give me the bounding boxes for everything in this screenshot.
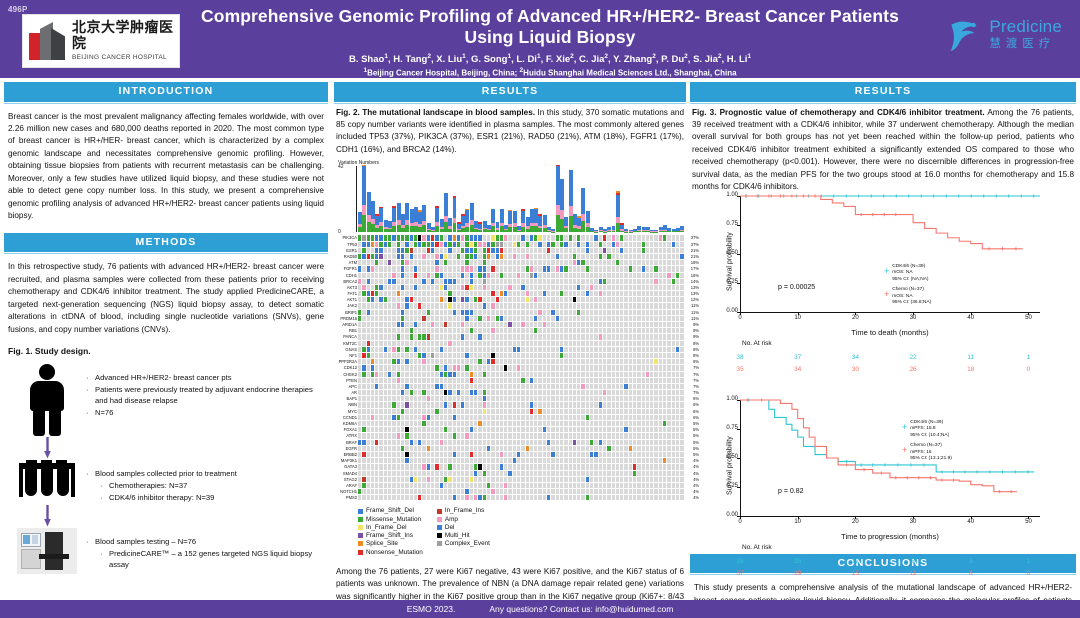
legend-label: Multi_Hit [445, 532, 470, 539]
km-y-tick [737, 254, 740, 255]
km-censor-marker [882, 194, 885, 197]
km-censor-marker [945, 194, 948, 197]
km2-legend: + CDK4/6 (N=39) mPFS: 15.8 95% CI: (10.4… [902, 420, 952, 467]
km-x-tick-label: 40 [967, 519, 974, 525]
oncoprint-bar [680, 226, 684, 233]
km-censor-marker [760, 398, 763, 401]
figure2-caption: Fig. 2. The mutational landscape in bloo… [334, 104, 686, 157]
km-censor-marker [779, 194, 782, 197]
km-censor-marker [929, 476, 932, 479]
plus-marker-icon: + [902, 446, 907, 455]
bullet: ·Advanced HR+/HER2- breast cancer pts [86, 372, 324, 383]
km-censor-marker [906, 476, 909, 479]
km-risk-value: 30 [852, 366, 859, 373]
oncoprint-legend-item: Frame_Shift_Del [358, 507, 423, 514]
km-censor-marker [895, 194, 898, 197]
flow-arrow-2 [8, 504, 86, 528]
km-risk-value: 15 [852, 570, 859, 577]
legend-label: Del [445, 524, 455, 531]
oncoprint-legend-item: Frame_Shift_Ins [358, 532, 423, 539]
km-censor-marker [1026, 470, 1029, 473]
legend-swatch [358, 509, 363, 514]
km-y-tick [737, 400, 740, 401]
study-design-step-2: ·Blood samples collected prior to treatm… [8, 460, 324, 504]
plus-marker-icon: + [902, 423, 907, 432]
poster-header: 496P 北京大学肿瘤医院 BEIJING CANCER HOSPITAL Co… [0, 0, 1080, 78]
km-censor-marker [952, 478, 955, 481]
km-censor-marker [767, 194, 770, 197]
km-x-tick-label: 30 [910, 519, 917, 525]
legend-swatch [358, 550, 363, 555]
oncoprint-legend-item: Complex_Event [437, 540, 490, 547]
title-block: Comprehensive Genomic Profiling of Advan… [200, 6, 900, 79]
km-censor-marker [995, 194, 998, 197]
km-x-tick-label: 10 [794, 315, 801, 321]
plus-marker-icon: + [884, 267, 889, 276]
abstract-number: 496P [8, 5, 27, 14]
km-x-tick [798, 312, 799, 315]
legend-label: Frame_Shift_Del [366, 507, 414, 514]
legend-label: In_Frame_Del [366, 524, 407, 531]
section-header-results-right: RESULTS [690, 82, 1076, 102]
km-y-tick-label: 0.25 [712, 279, 738, 285]
km-x-tick-label: 40 [967, 315, 974, 321]
oncoprint-gene-row: PMS24% [358, 495, 684, 501]
km-censor-marker [1020, 194, 1023, 197]
km-censor-marker [1007, 194, 1010, 197]
km2-pvalue: p = 0.82 [778, 488, 804, 495]
legend-swatch [358, 517, 363, 522]
study-design-step-3: ·Blood samples testing – N=76 ·Predicine… [8, 528, 324, 574]
introduction-text: Breast cancer is the most prevalent mali… [4, 104, 328, 223]
down-arrow-icon [44, 437, 51, 459]
legend-label: Splice_Site [366, 540, 398, 547]
km-x-tick [740, 516, 741, 519]
km-censor-marker [976, 470, 979, 473]
km-curve [740, 400, 1017, 492]
km-censor-marker [894, 213, 897, 216]
km-censor-marker [813, 194, 816, 197]
legend-label: Amp [445, 516, 458, 523]
legend-label: Frame_Shift_Ins [366, 532, 413, 539]
title-line-1: Comprehensive Genomic Profiling of Advan… [201, 6, 899, 26]
oncoprint-bar-chart: 42 0 [358, 166, 684, 232]
km-censor-marker [970, 194, 973, 197]
km-y-tick [737, 429, 740, 430]
sub-bullet: ·PredicineCARE™ – a 152 genes targeted N… [86, 548, 324, 570]
km-censor-marker [982, 194, 985, 197]
km-x-tick-label: 50 [1025, 315, 1032, 321]
bullet: ·N=76 [86, 407, 324, 418]
km-y-tick-label: 1.00 [712, 396, 738, 402]
footer-contact: Any questions? Contact us: info@huidumed… [489, 604, 673, 614]
km-x-tick [913, 312, 914, 315]
legend-swatch [358, 533, 363, 538]
oncoprint-matrix: PIK3CA37%TP5337%ESR121%RAD5021%ATM18%FGF… [358, 235, 684, 501]
km-x-tick [971, 516, 972, 519]
poster-footer: ESMO 2023. Any questions? Contact us: in… [0, 600, 1080, 618]
km-risk-value: 8 [969, 570, 973, 577]
km-censor-marker [1001, 470, 1004, 473]
km-censor-marker [998, 490, 1001, 493]
km1-risk-row-cdk: 38373422111 [740, 354, 1040, 364]
down-arrow-icon [44, 505, 51, 527]
km-y-tick [737, 225, 740, 226]
legend-swatch [437, 525, 442, 530]
km-x-tick [855, 516, 856, 519]
middle-column: RESULTS Fig. 2. The mutational landscape… [334, 82, 686, 618]
hospital-name-cn: 北京大学肿瘤医院 [72, 21, 175, 52]
legend-swatch [437, 517, 442, 522]
km-risk-value: 11 [967, 354, 974, 361]
km-censor-marker [845, 460, 848, 463]
km-risk-value: 37 [736, 570, 743, 577]
km-censor-marker [1014, 470, 1017, 473]
right-column: RESULTS Fig. 3. Prognostic value of chem… [690, 82, 1076, 618]
km-curve [740, 196, 1023, 249]
km2-risk-row-chemo: 3729151180 [740, 570, 1040, 580]
km-risk-value: 25 [794, 558, 801, 565]
sponsor-name-en: Predicine [989, 18, 1062, 35]
km-risk-value: 35 [736, 366, 743, 373]
km1-legend-item: + CDK4/6 (N=39) mOS: NA 95% CI: (NA;NA) [884, 264, 931, 283]
km-censor-marker [932, 194, 935, 197]
poster-title: Comprehensive Genomic Profiling of Advan… [200, 6, 900, 49]
legend-label: In_Frame_Ins [445, 507, 484, 514]
km-x-tick-label: 30 [910, 315, 917, 321]
km-x-tick-label: 0 [738, 315, 741, 321]
oncoprint-legend-item: Amp [437, 516, 490, 523]
km-y-tick-label: 0.25 [712, 483, 738, 489]
hospital-logo: 北京大学肿瘤医院 BEIJING CANCER HOSPITAL [22, 14, 180, 68]
km-censor-marker [860, 213, 863, 216]
km-censor-marker [917, 476, 920, 479]
figure1-study-design: ·Advanced HR+/HER2- breast cancer pts ·P… [4, 356, 328, 574]
km-x-tick-label: 50 [1025, 519, 1032, 525]
legend-swatch [437, 541, 442, 546]
km-censor-marker [1001, 247, 1004, 250]
km1-pvalue: p = 0.00025 [778, 284, 815, 291]
km1-legend: + CDK4/6 (N=39) mOS: NA 95% CI: (NA;NA) … [884, 264, 931, 311]
km-censor-marker [870, 194, 873, 197]
oncoprint-legend-item: Missense_Mutation [358, 516, 423, 523]
sub-bullet: ·CDK4/6 inhibitor therapy: N=39 [86, 492, 324, 503]
person-icon [26, 364, 68, 436]
km-y-tick-label: 0.50 [712, 250, 738, 256]
km1-risk-label: No. At risk [742, 340, 772, 347]
km-x-tick [740, 312, 741, 315]
figure2-caption-bold: Fig. 2. The mutational landscape in bloo… [336, 108, 535, 117]
km-risk-value: 22 [909, 354, 916, 361]
oncoprint-cell [680, 495, 684, 501]
km2-legend-item: + CDK4/6 (N=39) mPFS: 15.8 95% CI: (10.4… [902, 420, 952, 439]
km-x-tick [798, 516, 799, 519]
km-censor-marker [987, 247, 990, 250]
km-censor-marker [845, 463, 848, 466]
km-plot-progression-free-survival: Survival probability Time to progression… [690, 398, 1076, 532]
km-censor-marker [862, 468, 865, 471]
y-tick-max: 42 [338, 164, 344, 170]
footer-conference: ESMO 2023. [407, 604, 456, 614]
section-header-introduction: INTRODUCTION [4, 82, 328, 102]
km-censor-marker [883, 463, 886, 466]
km-y-tick [737, 487, 740, 488]
km-y-tick-label: 0.75 [712, 221, 738, 227]
km-x-tick [855, 312, 856, 315]
section-header-methods: METHODS [4, 233, 328, 253]
km-y-tick-label: 1.00 [712, 192, 738, 198]
km-censor-marker [963, 470, 966, 473]
title-line-2: Using Liquid Biopsy [464, 27, 635, 47]
km-y-tick-label: 0.00 [712, 308, 738, 314]
oncoprint-legend-item: In_Frame_Ins [437, 507, 490, 514]
study-design-step-1: ·Advanced HR+/HER2- breast cancer pts ·P… [8, 364, 324, 436]
km-risk-value: 34 [794, 366, 801, 373]
km2-risk-row-cdk: 392517831 [740, 558, 1040, 568]
km1-x-axis-title: Time to death (months) [740, 328, 1040, 337]
km-censor-marker [744, 194, 747, 197]
km-risk-value: 8 [911, 558, 915, 565]
section-header-results: RESULTS [334, 82, 686, 102]
figure1-label: Fig. 1. Study design. [4, 346, 328, 356]
km-x-tick [913, 516, 914, 519]
km-curve [740, 400, 1034, 472]
km1-risk-row-chemo: 35343026180 [740, 366, 1040, 376]
km-x-tick [1028, 312, 1029, 315]
km-risk-value: 1 [1027, 354, 1031, 361]
legend-swatch [437, 509, 442, 514]
km-censor-marker [988, 470, 991, 473]
km-censor-marker [1010, 490, 1013, 493]
km-censor-marker [860, 463, 863, 466]
km-risk-value: 18 [967, 366, 974, 373]
blood-tubes-icon [19, 460, 75, 502]
legend-label: Complex_Event [445, 540, 490, 547]
km-censor-marker [1032, 194, 1035, 197]
oncoprint-legend-item: In_Frame_Del [358, 524, 423, 531]
km-censor-marker [871, 213, 874, 216]
km-y-tick-label: 0.75 [712, 425, 738, 431]
oncoprint-legend-item: Del [437, 524, 490, 531]
methods-text: In this retrospective study, 76 patients… [4, 254, 328, 336]
predicine-bird-icon [948, 16, 982, 52]
km-risk-value: 0 [1027, 570, 1031, 577]
km-risk-value: 34 [852, 354, 859, 361]
km-risk-value: 39 [736, 558, 743, 565]
km2-risk-label: No. At risk [742, 544, 772, 551]
km-censor-marker [952, 470, 955, 473]
km-censor-marker [957, 194, 960, 197]
poster-root: 496P 北京大学肿瘤医院 BEIJING CANCER HOSPITAL Co… [0, 0, 1080, 618]
km-x-tick-label: 0 [738, 519, 741, 525]
figure3-caption-bold: Fig. 3. Prognostic value of chemotherapy… [692, 108, 985, 117]
plus-marker-icon: + [884, 290, 889, 299]
km-x-tick [1028, 516, 1029, 519]
km-censor-marker [907, 194, 910, 197]
affiliation-list: 1Beijing Cancer Hospital, Beijing, China… [200, 67, 900, 79]
km-y-tick [737, 196, 740, 197]
km-censor-marker [871, 463, 874, 466]
hospital-logo-icon [27, 19, 69, 63]
legend-swatch [358, 525, 363, 530]
km-risk-value: 17 [852, 558, 859, 565]
sequencer-icon [17, 528, 77, 574]
km-x-tick-label: 20 [852, 519, 859, 525]
km-censor-marker [790, 194, 793, 197]
km-x-tick-label: 10 [794, 519, 801, 525]
km-y-tick [737, 283, 740, 284]
oncoprint-legend: Frame_Shift_DelMissense_MutationIn_Frame… [336, 501, 684, 555]
km-censor-marker [883, 213, 886, 216]
km1-legend-item: + Chemo (N=37) mOS: NA 95% CI: (36.8;NA) [884, 287, 931, 306]
oncoprint-legend-item: Splice_Site [358, 540, 423, 547]
km-risk-value: 1 [1027, 558, 1031, 565]
km-x-tick-label: 20 [852, 315, 859, 321]
sub-bullet: ·Chemotherapies: N=37 [86, 480, 324, 491]
km-risk-value: 0 [1027, 366, 1031, 373]
km-censor-marker [832, 194, 835, 197]
flow-arrow-1 [8, 436, 86, 460]
km-censor-marker [940, 478, 943, 481]
km-risk-value: 3 [969, 558, 973, 565]
km-censor-marker [880, 471, 883, 474]
km-risk-value: 38 [736, 354, 743, 361]
km-censor-marker [896, 463, 899, 466]
bullet: ·Patients were previously treated by adj… [86, 384, 324, 406]
legend-label: Missense_Mutation [366, 516, 421, 523]
km-censor-marker [1014, 247, 1017, 250]
km2-legend-item: + Chemo (N=37) mPFS: 16 95% CI: (13.1;21… [902, 443, 952, 462]
km-y-tick [737, 458, 740, 459]
legend-swatch [358, 541, 363, 546]
km-risk-value: 37 [794, 354, 801, 361]
bullet: ·Blood samples collected prior to treatm… [86, 468, 324, 479]
bullet: ·Blood samples testing – N=76 [86, 536, 324, 547]
figure3-caption-rest: Among the 76 patients, 39 received treat… [692, 108, 1074, 192]
km-plot-overall-survival: Survival probability Time to death (mont… [690, 194, 1076, 328]
km2-x-axis-title: Time to progression (months) [740, 532, 1040, 541]
km-censor-marker [802, 194, 805, 197]
oncoprint-legend-item: Multi_Hit [437, 532, 490, 539]
km-censor-marker [857, 194, 860, 197]
figure2-oncoprint: Variation Numbers 42 0 PIK3CA37%TP5337%E… [334, 156, 686, 555]
km-risk-value: 26 [909, 366, 916, 373]
km-risk-value: 11 [910, 570, 917, 577]
km-censor-marker [894, 476, 897, 479]
sponsor-logo: Predicine 慧渡医疗 [948, 16, 1062, 52]
km-censor-marker [940, 470, 943, 473]
figure3-caption: Fig. 3. Prognostic value of chemotherapy… [690, 104, 1076, 194]
legend-label: Nonsense_Mutation [366, 549, 423, 556]
km-x-tick [971, 312, 972, 315]
sponsor-name-cn: 慧渡医疗 [989, 38, 1062, 50]
km-y-tick-label: 0.00 [712, 512, 738, 518]
oncoprint-gene-name: PMS2 [336, 495, 357, 501]
author-list: B. Shao1, H. Tang2, X. Liu1, G. Song1, L… [200, 53, 900, 67]
left-column: INTRODUCTION Breast cancer is the most p… [4, 82, 328, 574]
km2-curves [726, 400, 1056, 520]
hospital-name-en: BEIJING CANCER HOSPITAL [72, 54, 175, 61]
oncoprint-legend-item: Nonsense_Mutation [358, 549, 423, 556]
km-y-tick-label: 0.50 [712, 454, 738, 460]
legend-swatch [437, 533, 442, 538]
km-risk-value: 29 [794, 570, 801, 577]
km-censor-marker [845, 194, 848, 197]
km-censor-marker [920, 194, 923, 197]
